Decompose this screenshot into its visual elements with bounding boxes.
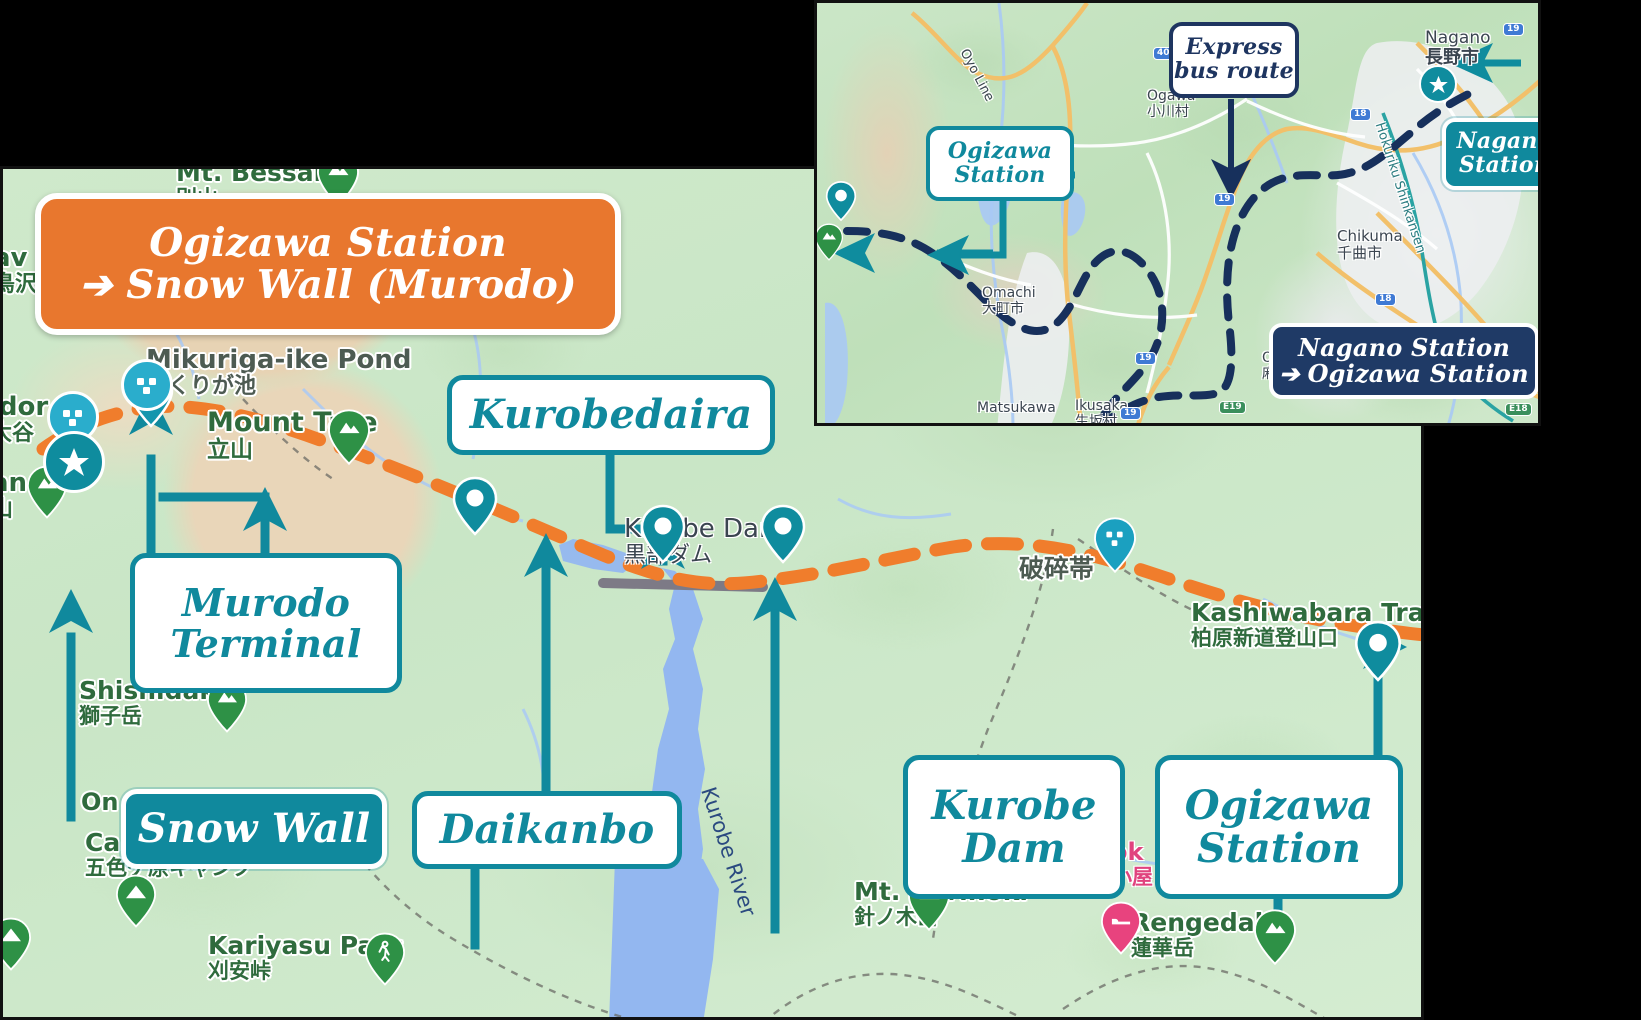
- road-shield-19-a: 19: [1214, 193, 1235, 206]
- callout-nagano-station-inset-label: Nagano Station: [1457, 130, 1541, 178]
- callout-snow-wall[interactable]: Snow Wall: [121, 789, 387, 869]
- road-shield-19-d: 19: [1503, 23, 1524, 36]
- callout-kurobe-dam[interactable]: Kurobe Dam: [903, 755, 1125, 899]
- callout-express-bus-route[interactable]: Express bus route: [1169, 22, 1299, 98]
- callout-daikanbo-label: Daikanbo: [440, 808, 655, 851]
- hiking-trails: [243, 399, 1333, 1020]
- callout-kurobedaira[interactable]: Kurobedaira: [447, 375, 775, 455]
- arrow-right-icon-inset: ➔: [1279, 361, 1299, 387]
- inset-pin-nagano-station[interactable]: [1419, 65, 1457, 103]
- title-line1: Ogizawa Station: [149, 222, 507, 264]
- callout-nagano-to-ogizawa-banner[interactable]: Nagano Station ➔ Ogizawa Station: [1269, 323, 1539, 399]
- callout-daikanbo[interactable]: Daikanbo: [412, 791, 682, 869]
- road-shield-e18: E18: [1505, 403, 1532, 416]
- title-line2-row: ➔ Snow Wall (Murodo): [79, 264, 576, 306]
- callout-snow-wall-label: Snow Wall: [138, 807, 371, 850]
- map-badge-mikurigaike-facility[interactable]: [121, 359, 173, 411]
- callout-kurobe-dam-label: Kurobe Dam: [931, 784, 1096, 870]
- callout-ogizawa-station-inset-label: Ogizawa Station: [948, 140, 1052, 188]
- callout-ogizawa-station-inset[interactable]: Ogizawa Station: [926, 126, 1074, 201]
- callout-ogizawa-station-main[interactable]: Ogizawa Station: [1155, 755, 1403, 899]
- road-shield-19-c: 19: [1120, 407, 1141, 420]
- inset-map[interactable]: Nagano 長野市 Ogawa 小川村 Chikuma 千曲市 Omachi …: [814, 0, 1541, 426]
- banner-line1: Nagano Station: [1298, 335, 1510, 361]
- screenshot-root: Mt. Bessan 別山 Mikuriga-ike Pond みくりが池 Mo…: [0, 0, 1641, 1020]
- road-shield-19-b: 19: [1135, 352, 1156, 365]
- lake-south-bulge: [609, 855, 719, 1020]
- map-badge-snow-wall-star[interactable]: [43, 431, 105, 493]
- callout-murodo-terminal[interactable]: Murodo Terminal: [130, 553, 402, 693]
- callout-kurobedaira-label: Kurobedaira: [470, 393, 752, 436]
- callout-nagano-station-inset[interactable]: Nagano Station: [1442, 118, 1541, 190]
- callout-ogizawa-station-main-label: Ogizawa Station: [1185, 784, 1373, 870]
- arrow-right-icon: ➔: [79, 264, 112, 306]
- callout-title-banner[interactable]: Ogizawa Station ➔ Snow Wall (Murodo): [35, 193, 621, 335]
- banner-line2-row: ➔ Ogizawa Station: [1279, 361, 1529, 387]
- callout-express-bus-route-label: Express bus route: [1174, 36, 1294, 84]
- road-shield-18-a: 18: [1350, 108, 1371, 121]
- road-shield-e19: E19: [1219, 401, 1246, 414]
- callout-murodo-terminal-label: Murodo Terminal: [170, 582, 361, 664]
- banner-line2: Ogizawa Station: [1308, 361, 1529, 387]
- road-shield-18-b: 18: [1375, 293, 1396, 306]
- title-line2: Snow Wall (Murodo): [126, 264, 576, 306]
